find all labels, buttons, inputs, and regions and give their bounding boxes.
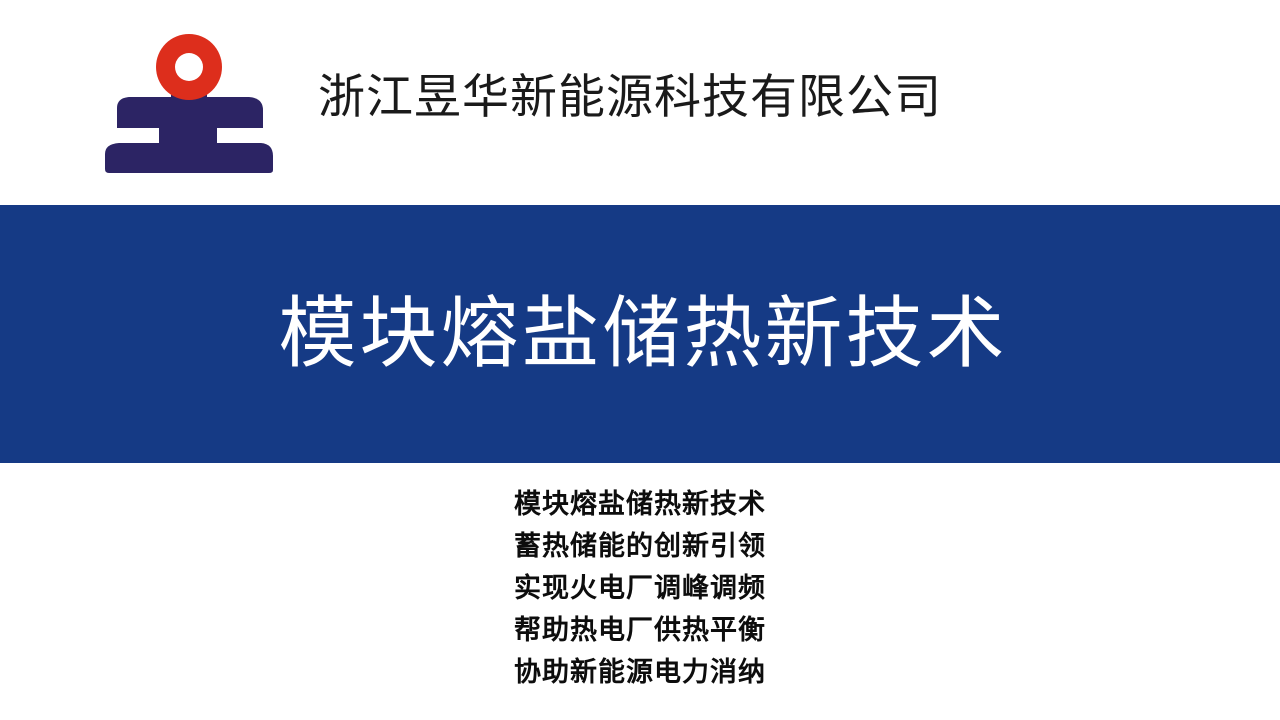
company-logo-red-ring (156, 34, 222, 100)
list-item: 实现火电厂调峰调频 (0, 568, 1280, 610)
title-band: 模块熔盐储热新技术 (0, 205, 1280, 463)
company-name: 浙江昱华新能源科技有限公司 (318, 68, 942, 128)
company-logo-graphic (103, 30, 275, 175)
main-title: 模块熔盐储热新技术 (272, 288, 1007, 380)
list-item: 模块熔盐储热新技术 (0, 484, 1280, 526)
tagline-list: 模块熔盐储热新技术 蓄热储能的创新引领 实现火电厂调峰调频 帮助热电厂供热平衡 … (0, 484, 1280, 694)
slide-header: 浙江昱华新能源科技有限公司 (0, 0, 1280, 205)
company-logo-blue-pedestal (105, 90, 273, 173)
presentation-slide: 浙江昱华新能源科技有限公司 模块熔盐储热新技术 模块熔盐储热新技术 蓄热储能的创… (0, 0, 1280, 720)
list-item: 帮助热电厂供热平衡 (0, 610, 1280, 652)
list-item: 蓄热储能的创新引领 (0, 526, 1280, 568)
list-item: 协助新能源电力消纳 (0, 652, 1280, 694)
main-title-container: 模块熔盐储热新技术 (0, 205, 1280, 463)
company-logo (103, 30, 275, 175)
